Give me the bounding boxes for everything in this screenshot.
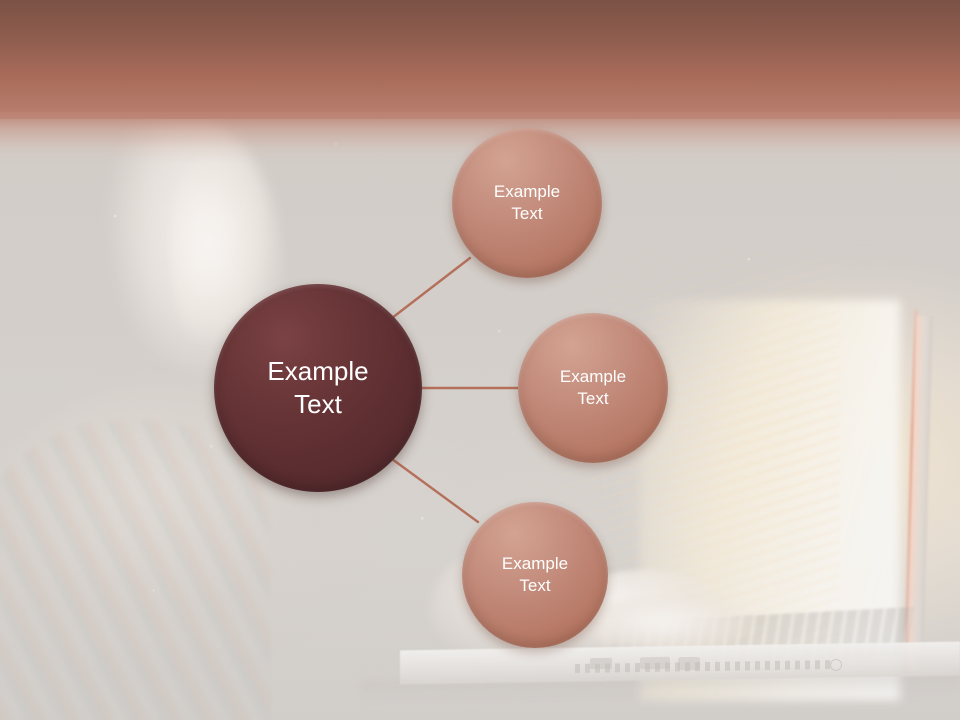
circle-node-main[interactable]: ExampleText [214, 284, 422, 492]
circle-node-top-label: ExampleText [484, 181, 570, 225]
circle-node-middle-label: ExampleText [550, 366, 636, 410]
presentation-slide: Circles – Your Title Text Here ExampleTe… [0, 0, 960, 720]
circle-node-bottom-label: ExampleText [492, 553, 578, 597]
connector-main-to-top [392, 258, 470, 318]
circle-node-middle[interactable]: ExampleText [518, 313, 668, 463]
circle-node-bottom[interactable]: ExampleText [462, 502, 608, 648]
circle-node-top[interactable]: ExampleText [452, 128, 602, 278]
circle-node-main-label: ExampleText [257, 355, 378, 422]
connector-main-to-bottom [392, 459, 478, 522]
circles-diagram: ExampleText ExampleText ExampleText Exam… [0, 0, 960, 720]
